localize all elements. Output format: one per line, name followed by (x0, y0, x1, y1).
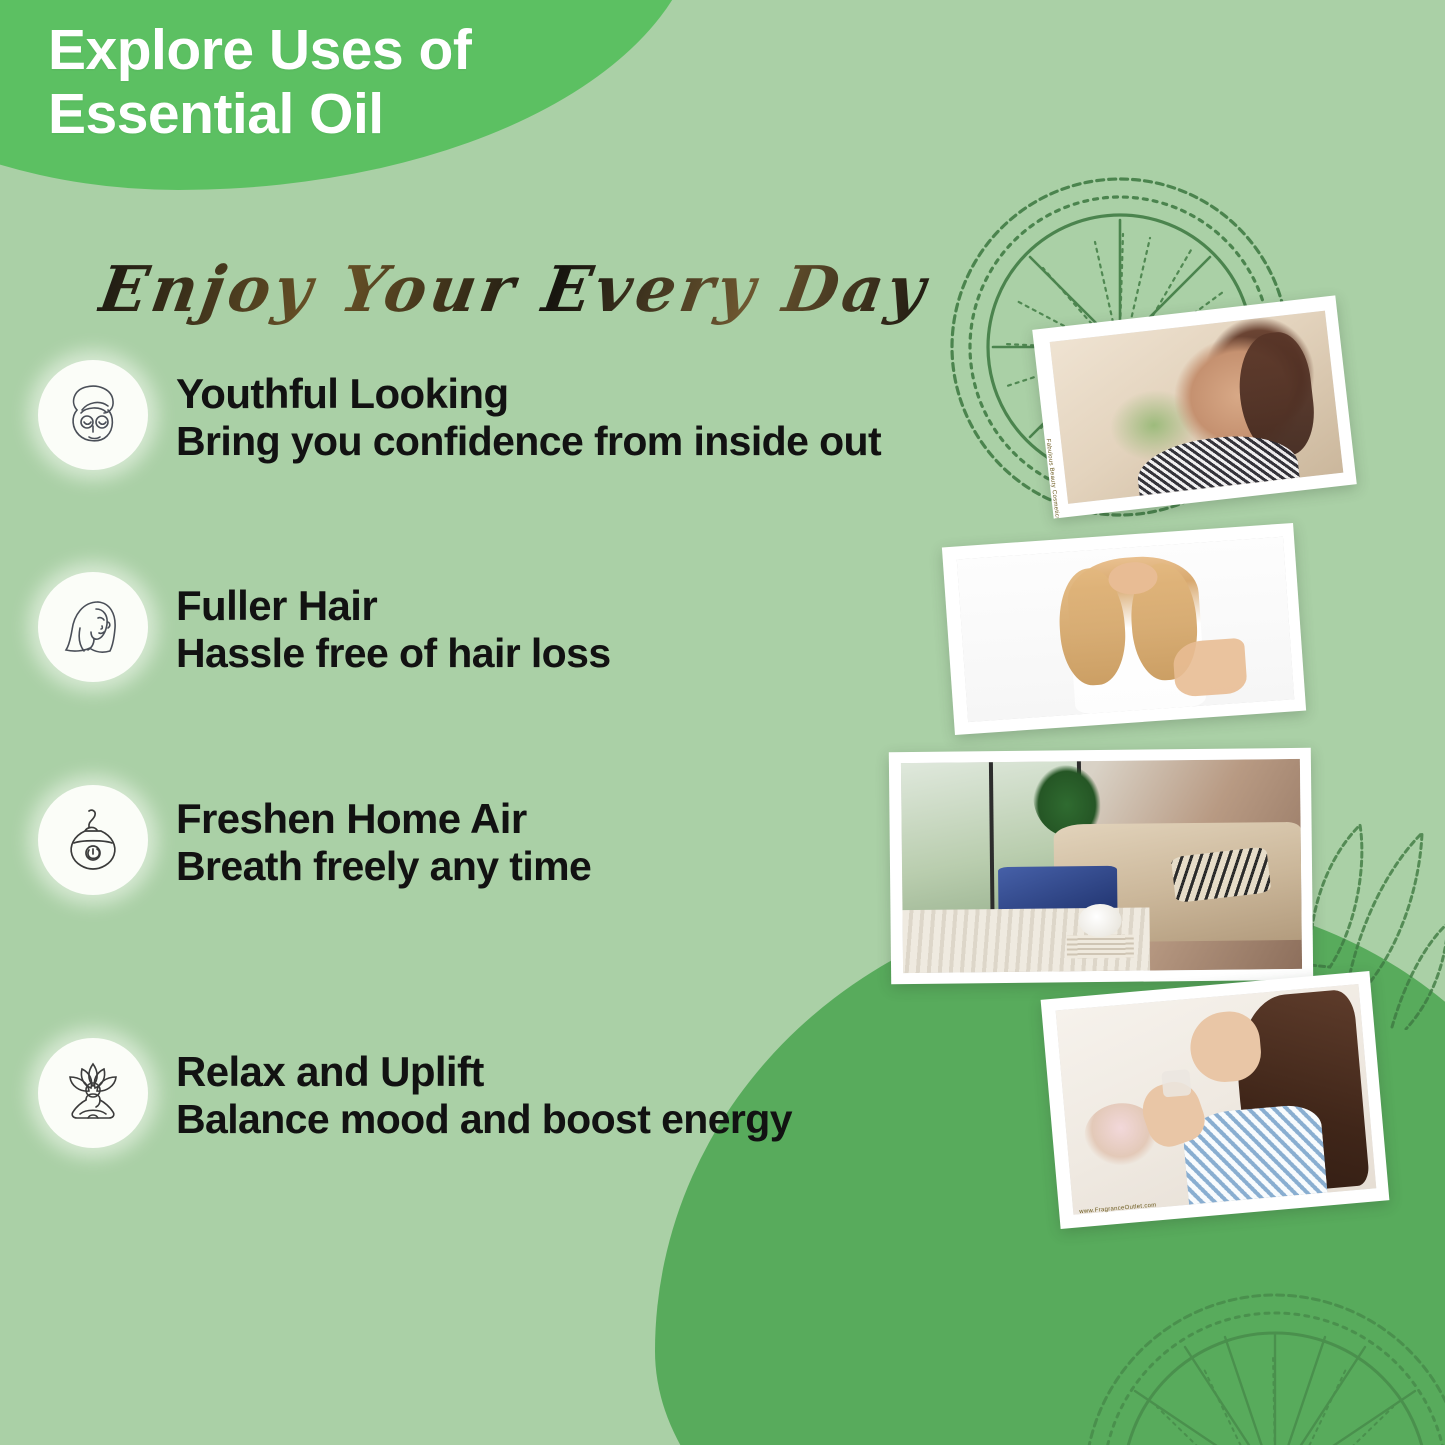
feature-item-freshen-home-air: Freshen Home Air Breath freely any time (0, 785, 591, 895)
photo-long-blonde-hair-woman (942, 523, 1306, 735)
long-hair-woman-icon (38, 572, 148, 682)
feature-item-youthful-looking: Youthful Looking Bring you confidence fr… (0, 360, 881, 470)
photo-detail-arm (1172, 637, 1248, 697)
photo-detail-perfume-bottle (1162, 1069, 1192, 1098)
photo-image-area (901, 759, 1302, 973)
photo-artwork (1050, 311, 1344, 504)
feature-text-block: Relax and Uplift Balance mood and boost … (176, 1038, 792, 1143)
photo-smiling-woman-indoor: Fabulous Beauty Cosmetics (1032, 295, 1357, 518)
photo-watermark: Fabulous Beauty Cosmetics (1045, 438, 1060, 518)
page-title-line2: Essential Oil (48, 82, 471, 146)
lotus-meditation-icon (38, 1038, 148, 1148)
feature-subtitle: Bring you confidence from inside out (176, 419, 881, 465)
feature-text-block: Youthful Looking Bring you confidence fr… (176, 360, 881, 465)
photo-artwork (957, 537, 1295, 722)
page-title: Explore Uses of Essential Oil (48, 18, 471, 147)
feature-title: Freshen Home Air (176, 797, 591, 842)
photo-detail-face (1187, 1009, 1263, 1085)
feature-title: Fuller Hair (176, 584, 611, 629)
photo-woman-applying-fragrance: www.FragranceOutlet.com (1041, 971, 1390, 1229)
page-title-line1: Explore Uses of (48, 18, 471, 82)
feature-subtitle: Hassle free of hair loss (176, 631, 611, 677)
feature-item-relax-and-uplift: Relax and Uplift Balance mood and boost … (0, 1038, 792, 1148)
feature-subtitle: Breath freely any time (176, 844, 591, 890)
photo-artwork (1056, 984, 1377, 1215)
feature-subtitle: Balance mood and boost energy (176, 1097, 792, 1143)
photo-detail-books (1066, 935, 1134, 959)
feature-text-block: Fuller Hair Hassle free of hair loss (176, 572, 611, 677)
photo-image-area (1050, 311, 1344, 504)
aroma-diffuser-icon (38, 785, 148, 895)
infographic-canvas: Explore Uses of Essential Oil Enjoy Your… (0, 0, 1445, 1445)
photo-artwork (901, 759, 1302, 973)
photo-image-area (1056, 984, 1377, 1215)
photo-boho-living-room-diffuser (889, 748, 1313, 984)
tagline-script-text: Enjoy Your Every Day (94, 252, 934, 326)
feature-title: Youthful Looking (176, 372, 881, 417)
photo-image-area (957, 537, 1295, 722)
face-mask-icon (38, 360, 148, 470)
feature-item-fuller-hair: Fuller Hair Hassle free of hair loss (0, 572, 611, 682)
feature-title: Relax and Uplift (176, 1050, 792, 1095)
feature-text-block: Freshen Home Air Breath freely any time (176, 785, 591, 890)
